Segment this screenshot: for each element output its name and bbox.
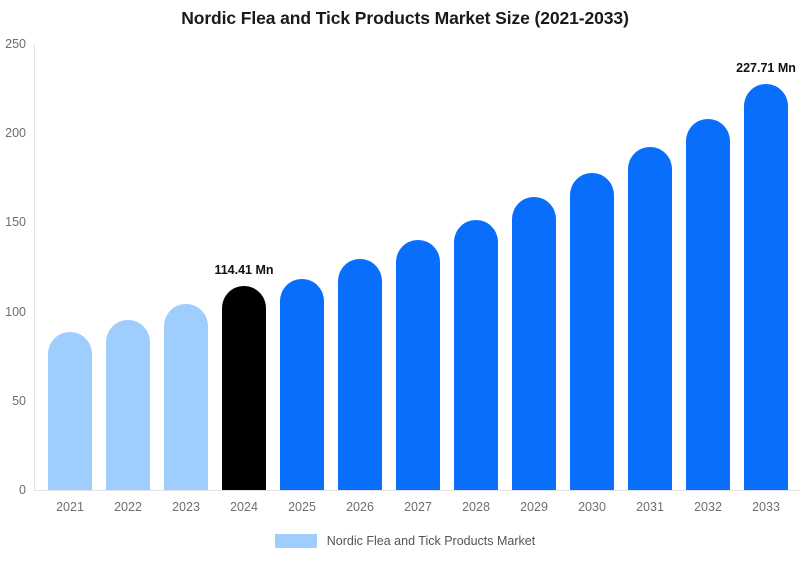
x-axis-tick-label-2033: 2033 — [744, 500, 788, 514]
x-axis-tick-label-2027: 2027 — [396, 500, 440, 514]
bar-2027[interactable] — [396, 240, 440, 490]
bar-2021[interactable] — [48, 332, 92, 490]
bar-2032[interactable] — [686, 119, 730, 490]
legend-label: Nordic Flea and Tick Products Market — [327, 534, 535, 548]
bar-2028[interactable] — [454, 220, 498, 490]
bar-2026[interactable] — [338, 259, 382, 490]
x-axis-tick-label-2023: 2023 — [164, 500, 208, 514]
chart-title: Nordic Flea and Tick Products Market Siz… — [0, 8, 810, 29]
x-axis-tick-label-2022: 2022 — [106, 500, 150, 514]
chart-legend: Nordic Flea and Tick Products Market — [0, 534, 810, 548]
y-axis-tick-label: 250 — [5, 37, 34, 51]
bar-value-label-2024: 114.41 Mn — [214, 263, 273, 277]
y-axis-tick-label: 0 — [19, 483, 34, 497]
y-axis-tick-label: 50 — [12, 394, 34, 408]
bar-2024[interactable] — [222, 286, 266, 490]
bars-layer: 114.41 Mn227.71 Mn — [34, 44, 800, 490]
x-axis-tick-label-2030: 2030 — [570, 500, 614, 514]
bar-2022[interactable] — [106, 320, 150, 490]
y-axis-tick-label: 200 — [5, 126, 34, 140]
chart-container: Nordic Flea and Tick Products Market Siz… — [0, 0, 810, 562]
bar-2029[interactable] — [512, 197, 556, 490]
bar-2023[interactable] — [164, 304, 208, 490]
x-axis-tick-label-2029: 2029 — [512, 500, 556, 514]
x-axis-tick-label-2031: 2031 — [628, 500, 672, 514]
x-axis-line — [34, 490, 800, 491]
x-axis-tick-label-2024: 2024 — [222, 500, 266, 514]
y-axis-tick-label: 150 — [5, 215, 34, 229]
legend-item[interactable]: Nordic Flea and Tick Products Market — [275, 534, 535, 548]
bar-2031[interactable] — [628, 147, 672, 490]
y-axis-tick-label: 100 — [5, 305, 34, 319]
bar-2030[interactable] — [570, 173, 614, 490]
bar-value-label-2033: 227.71 Mn — [736, 61, 796, 75]
bar-2033[interactable] — [744, 84, 788, 490]
x-axis-tick-label-2021: 2021 — [48, 500, 92, 514]
bar-2025[interactable] — [280, 279, 324, 490]
x-axis-tick-label-2032: 2032 — [686, 500, 730, 514]
x-axis-tick-label-2026: 2026 — [338, 500, 382, 514]
x-axis-tick-label-2025: 2025 — [280, 500, 324, 514]
x-axis-tick-label-2028: 2028 — [454, 500, 498, 514]
legend-swatch-icon — [275, 534, 317, 548]
